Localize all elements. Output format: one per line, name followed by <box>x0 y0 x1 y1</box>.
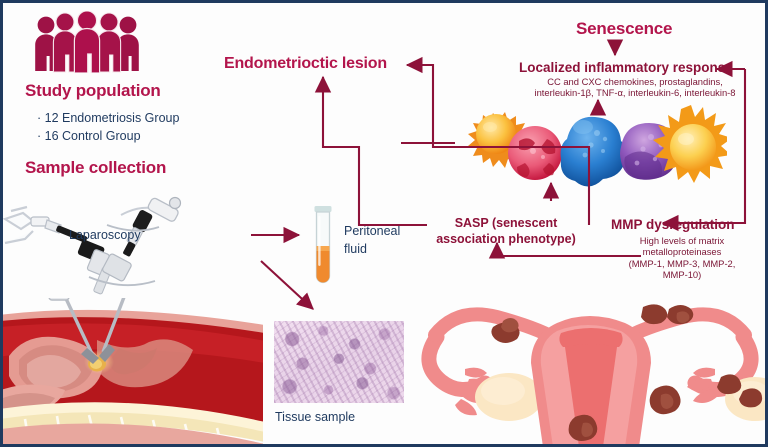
arrow-sasp-to-lesion <box>407 65 589 225</box>
arrow-sasp-left-to-lesion <box>323 77 427 225</box>
infographic-figure: Study population · 12 Endometriosis Grou… <box>0 0 768 447</box>
pathway-connectors <box>3 3 768 447</box>
arrow-to-tissue-sample <box>261 261 313 309</box>
arrow-inflammatory-to-mmp <box>663 69 745 223</box>
arrow-mmp-to-sasp <box>497 243 641 256</box>
